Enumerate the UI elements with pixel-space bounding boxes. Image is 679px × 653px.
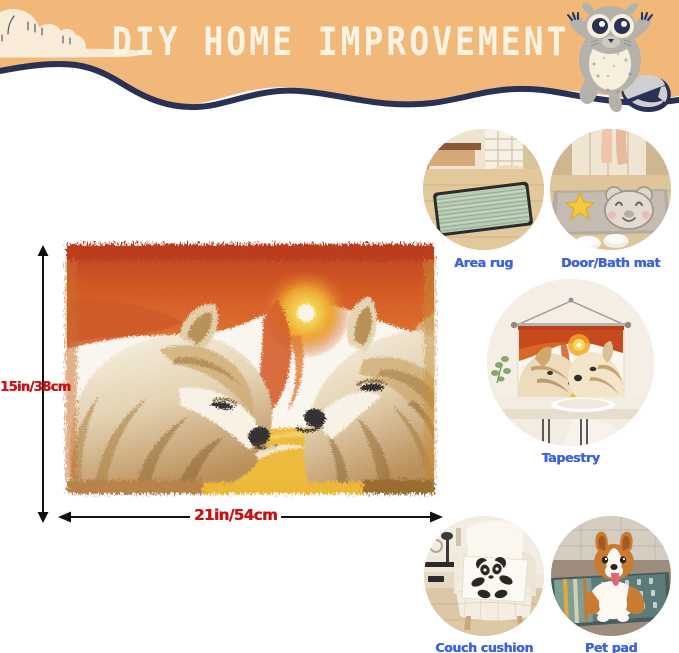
usage-thumb-pet-pad-image xyxy=(551,516,671,636)
tapestry-scene xyxy=(487,279,654,446)
width-dimension-label: 21in/54cm xyxy=(190,506,281,524)
usage-thumb-pet-pad[interactable]: Pet pad xyxy=(551,516,671,636)
main-product-rug xyxy=(63,240,438,498)
header-banner: DIY HOME IMPROVEMENT xyxy=(0,0,679,115)
door-bath-mat-scene xyxy=(550,129,671,250)
couch-cushion-scene xyxy=(424,516,544,636)
usage-thumb-door-mat-image xyxy=(550,129,671,250)
rug-fringe-top xyxy=(67,244,434,260)
rug-fringe-bottom xyxy=(67,480,434,494)
usage-thumb-pet-pad-label: Pet pad xyxy=(551,640,671,653)
usage-thumb-tapestry-image xyxy=(487,279,654,446)
usage-thumb-area-rug-label: Area rug xyxy=(423,255,544,270)
product-image-canvas: DIY HOME IMPROVEMENT xyxy=(0,0,679,653)
usage-thumb-door-mat-label: Door/Bath mat xyxy=(550,255,671,270)
usage-thumb-area-rug-image xyxy=(423,129,544,250)
usage-thumb-couch-cushion-image xyxy=(424,516,544,636)
usage-thumb-tapestry-label: Tapestry xyxy=(487,450,654,465)
page-title: DIY HOME IMPROVEMENT xyxy=(112,13,562,72)
usage-thumb-area-rug[interactable]: Area rug xyxy=(423,129,544,250)
pet-pad-scene xyxy=(551,516,671,636)
area-rug-scene xyxy=(423,129,544,250)
usage-thumb-couch-cushion[interactable]: Couch cushion xyxy=(424,516,544,636)
wolf-rug-illustration xyxy=(63,240,438,498)
usage-thumb-tapestry[interactable]: Tapestry xyxy=(487,279,654,446)
usage-thumb-couch-cushion-label: Couch cushion xyxy=(424,640,544,653)
raccoon-mascot-icon xyxy=(548,2,676,115)
usage-thumb-door-mat[interactable]: Door/Bath mat xyxy=(550,129,671,250)
height-dimension-label: 15in/38cm xyxy=(0,380,71,395)
